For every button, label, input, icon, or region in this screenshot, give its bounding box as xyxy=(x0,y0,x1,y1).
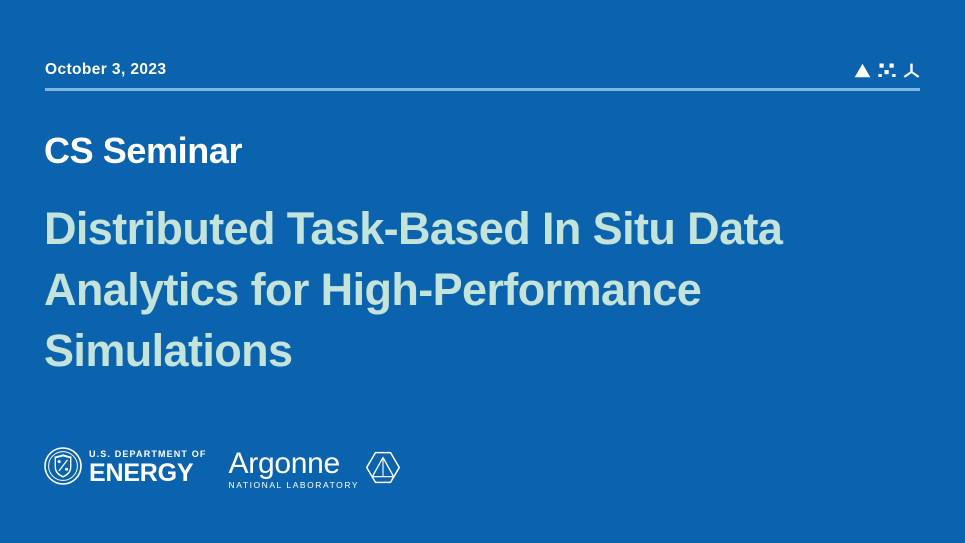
doe-department-line: U.S. DEPARTMENT OF xyxy=(89,450,207,459)
argonne-hexagon-a-icon xyxy=(365,451,401,489)
seminar-kicker: CS Seminar xyxy=(44,128,242,174)
header-divider-rule xyxy=(45,88,920,91)
argonne-wordmark: Argonne xyxy=(229,448,360,479)
title-line-3: Simulations xyxy=(44,320,924,381)
logo-row: U.S. DEPARTMENT OF ENERGY Argonne NATION… xyxy=(44,440,401,496)
argonne-subtitle: NATIONAL LABORATORY xyxy=(229,481,360,490)
doe-seal-icon xyxy=(44,447,82,490)
argonne-wordmark-group: Argonne NATIONAL LABORATORY xyxy=(229,448,360,490)
title-slide: October 3, 2023 xyxy=(0,0,965,543)
title-line-2: Analytics for High-Performance xyxy=(44,259,924,320)
title-line-1: Distributed Task-Based In Situ Data xyxy=(44,198,924,259)
doe-energy-line: ENERGY xyxy=(89,461,207,486)
doe-logo: U.S. DEPARTMENT OF ENERGY xyxy=(44,447,207,490)
slide-date: October 3, 2023 xyxy=(45,60,166,80)
doe-wordmark: U.S. DEPARTMENT OF ENERGY xyxy=(89,450,207,486)
argonne-logo: Argonne NATIONAL LABORATORY xyxy=(229,446,402,490)
tripod-icon xyxy=(903,63,920,78)
header-icon-group xyxy=(854,60,920,80)
triangle-mountain-icon xyxy=(854,63,871,78)
four-dots-icon xyxy=(878,62,896,78)
page-title: Distributed Task-Based In Situ Data Anal… xyxy=(44,198,924,381)
